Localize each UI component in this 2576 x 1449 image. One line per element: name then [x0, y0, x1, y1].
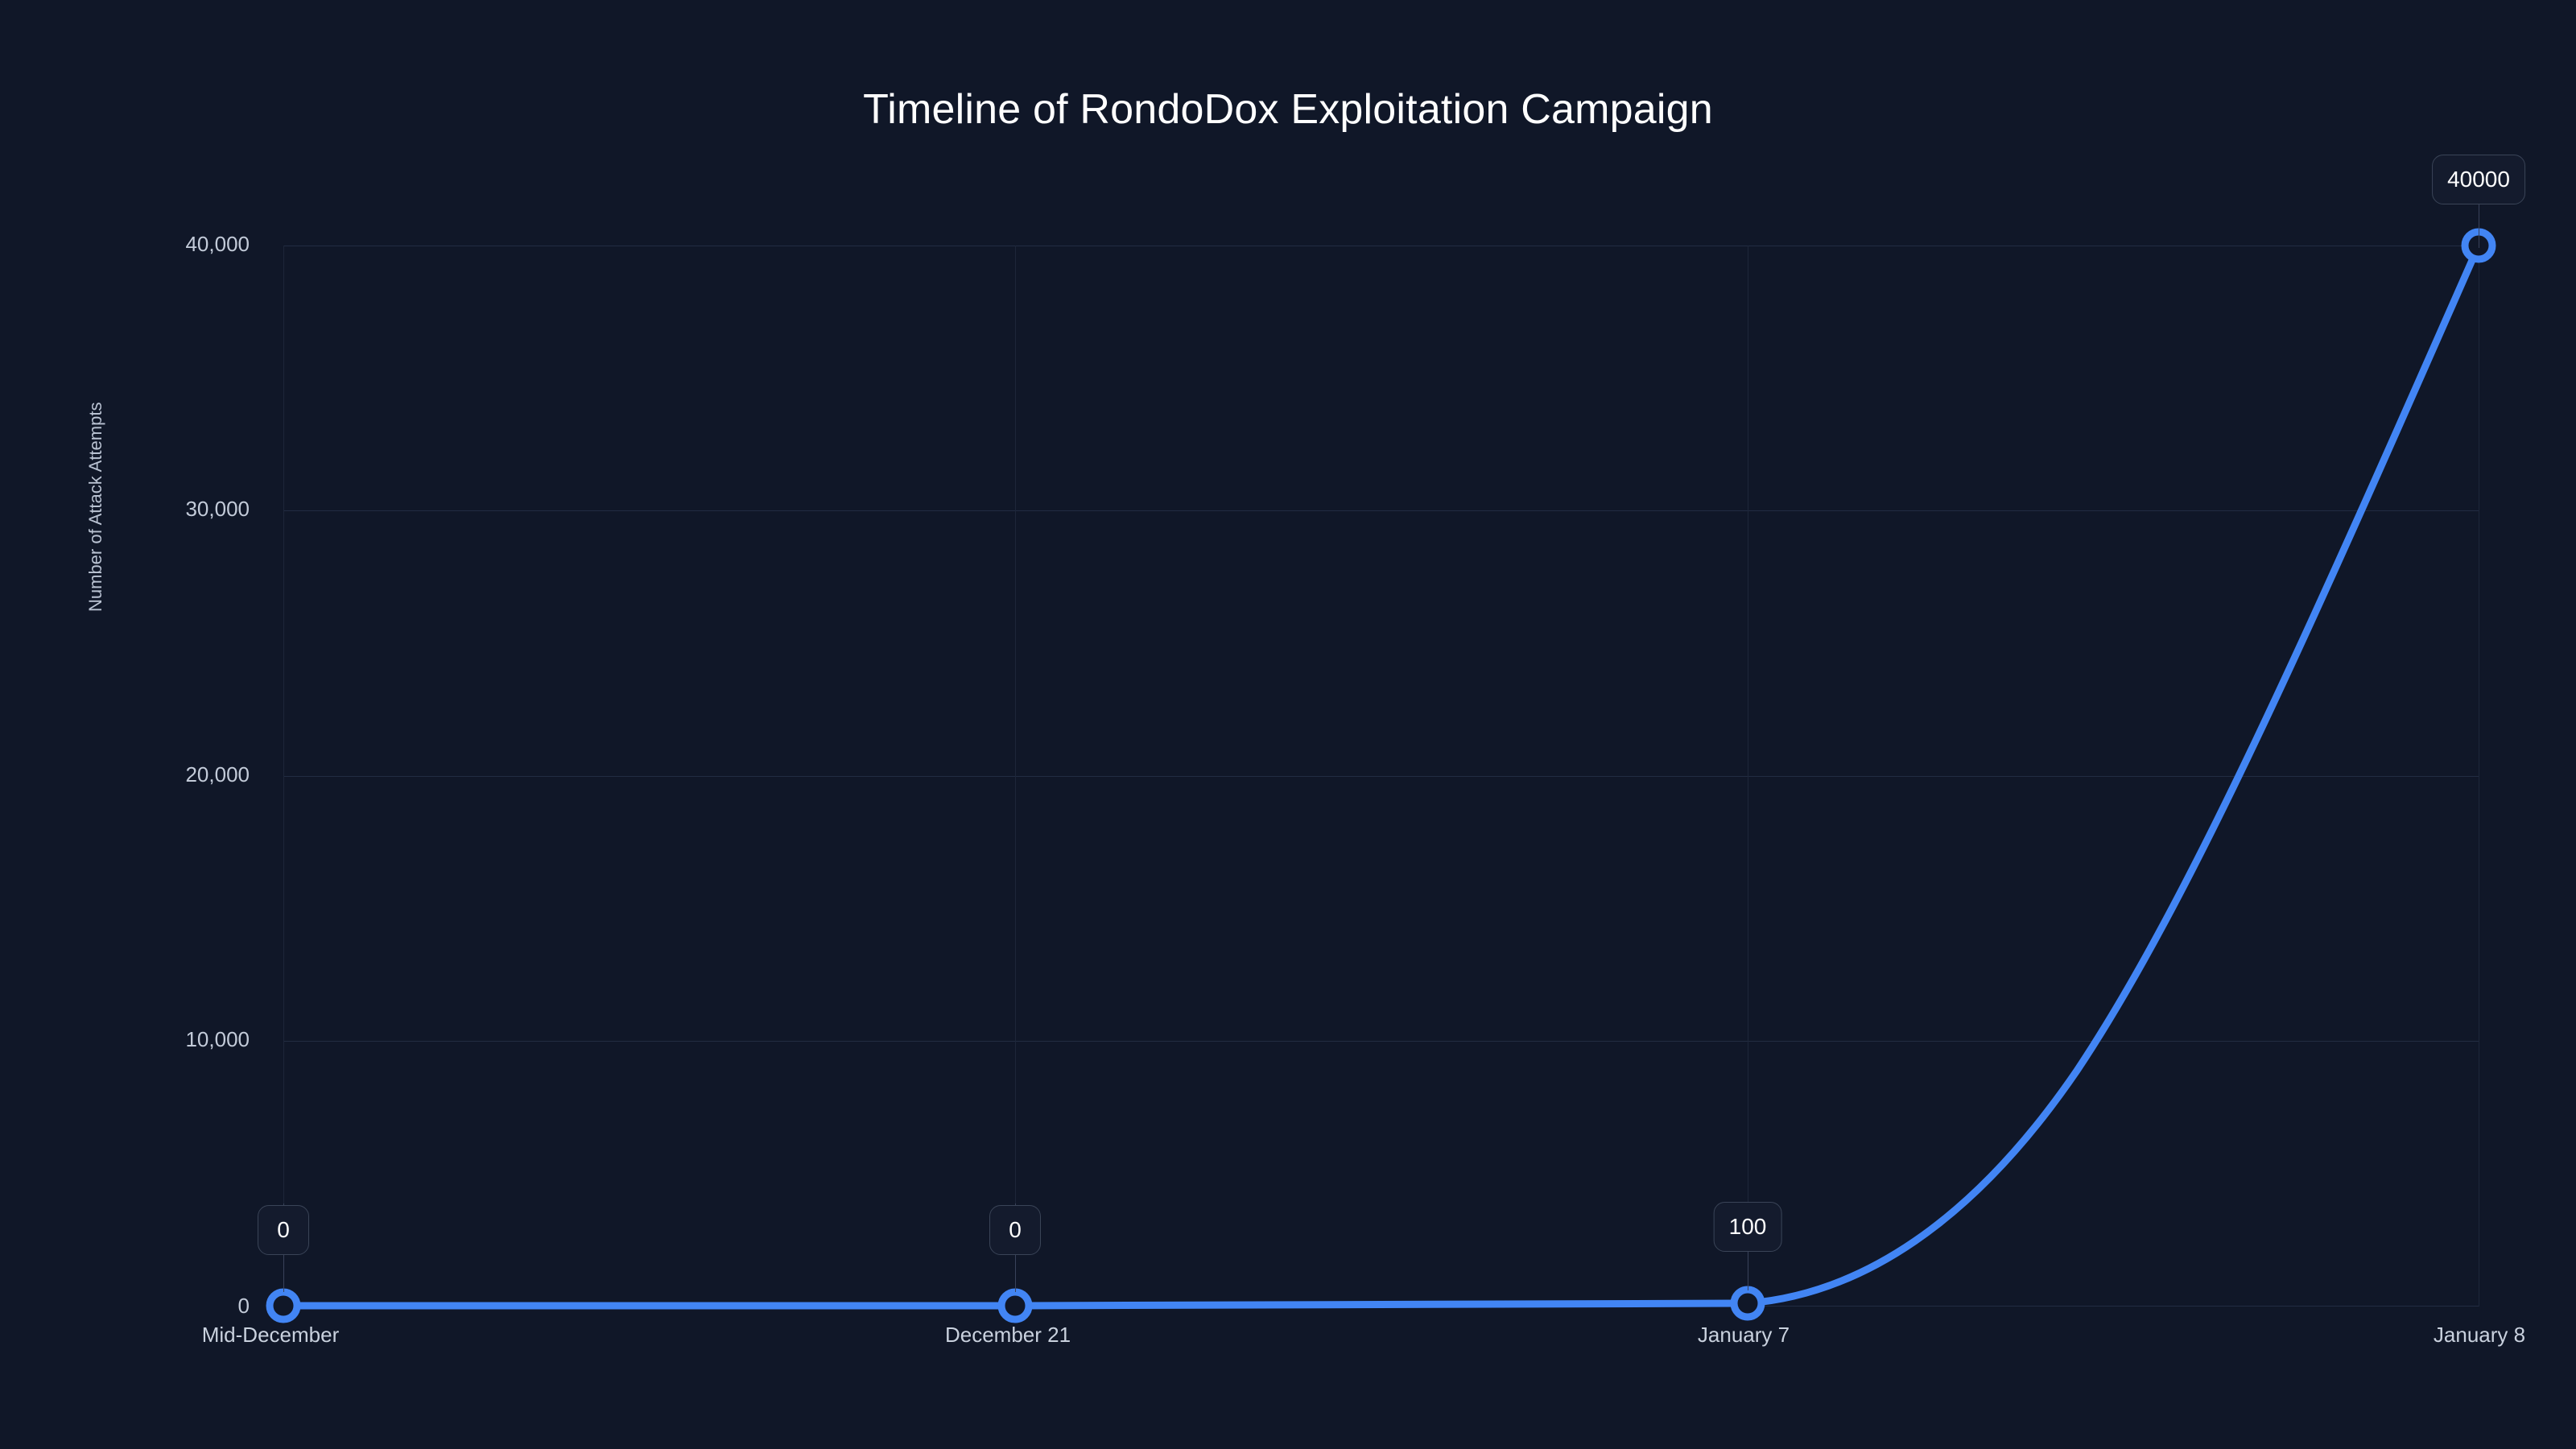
gridline-y-10000 — [283, 1041, 2479, 1042]
plot-area — [283, 246, 2479, 1307]
data-label-december-21: 0 — [989, 1205, 1041, 1255]
gridline-y-0 — [283, 1306, 2479, 1307]
x-axis-tick-december-21: December 21 — [945, 1324, 1071, 1345]
gridline-y-40000 — [283, 246, 2479, 246]
gridline-x-december-21 — [1015, 246, 1016, 1307]
data-label-january-7: 100 — [1714, 1202, 1782, 1252]
gridline-x-january-7 — [1748, 246, 1748, 1307]
callout-connector-january-8 — [2479, 201, 2479, 248]
chart-container: Timeline of RondoDox Exploitation Campai… — [0, 0, 2576, 1449]
gridline-x-mid-december — [283, 246, 284, 1307]
chart-title: Timeline of RondoDox Exploitation Campai… — [0, 89, 2576, 130]
y-axis-tick-0: 0 — [32, 1295, 250, 1316]
y-axis-tick-30000: 30,000 — [32, 498, 250, 519]
x-axis-tick-mid-december: Mid-December — [202, 1324, 340, 1345]
gridline-x-january-8 — [2479, 246, 2479, 1307]
y-axis-tick-40000: 40,000 — [32, 233, 250, 254]
x-axis-tick-january-7: January 7 — [1698, 1324, 1790, 1345]
data-label-mid-december: 0 — [258, 1205, 309, 1255]
x-axis-tick-january-8: January 8 — [2434, 1324, 2525, 1345]
gridline-y-30000 — [283, 510, 2479, 511]
y-axis-tick-20000: 20,000 — [32, 764, 250, 785]
data-label-january-8: 40000 — [2432, 155, 2525, 204]
gridline-y-20000 — [283, 776, 2479, 777]
y-axis-tick-10000: 10,000 — [32, 1029, 250, 1050]
